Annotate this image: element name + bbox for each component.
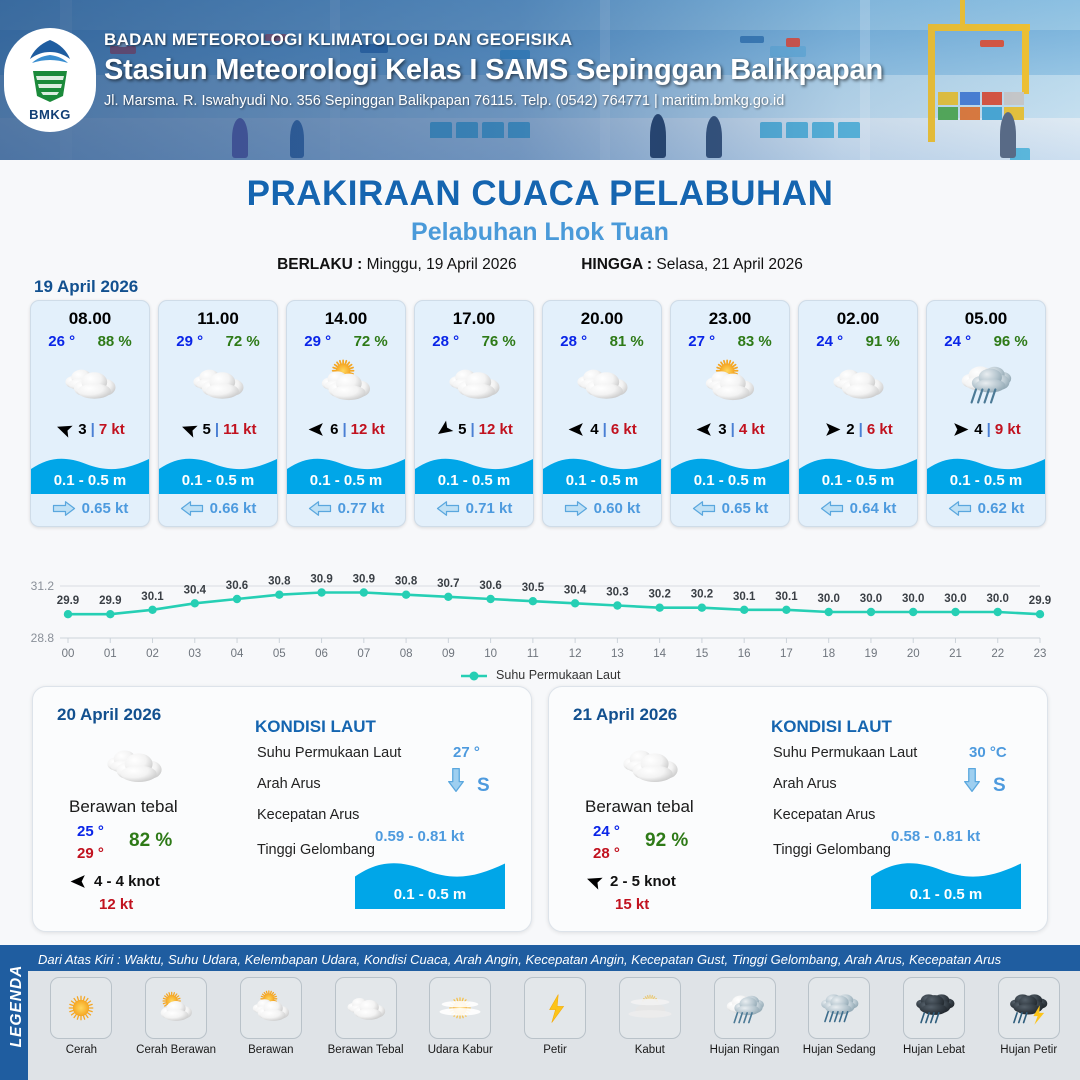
legend-item-icon-box	[240, 977, 302, 1039]
card-weather-icon	[287, 354, 405, 412]
svg-text:30.8: 30.8	[395, 576, 418, 588]
wind-direction-arrow-icon	[435, 420, 454, 439]
svg-text:15: 15	[696, 648, 709, 660]
partly-cloudy-icon	[310, 357, 382, 409]
forecast-card: 05.0024 °96 % 4|9 kt0.1 - 0.5 m0.62 kt	[926, 300, 1046, 527]
current-direction-down-arrow-icon	[963, 767, 981, 793]
card-temperature: 27 °	[688, 333, 715, 350]
card-wind-separator: |	[342, 421, 346, 438]
card-weather-icon	[159, 354, 277, 412]
cloudy-icon	[611, 737, 689, 793]
sea-current-direction-icon	[963, 767, 981, 798]
legend-item-icon-box	[808, 977, 870, 1039]
header-text-block: BADAN METEOROLOGI KLIMATOLOGI DAN GEOFIS…	[104, 30, 883, 109]
svg-text:30.0: 30.0	[902, 593, 924, 605]
legend-item: Petir	[508, 977, 603, 1057]
sun-cloud-icon	[149, 983, 203, 1033]
card-wave-height: 0.1 - 0.5 m	[671, 472, 789, 489]
wind-direction-arrow-icon	[307, 420, 326, 439]
current-direction-arrow-icon	[948, 500, 972, 517]
legend-item-label: Berawan	[248, 1044, 293, 1057]
svg-text:11: 11	[527, 648, 539, 660]
card-weather-icon	[799, 354, 917, 412]
card-gust-speed: 11 kt	[223, 421, 256, 438]
wind-direction-arrow-icon	[951, 420, 970, 439]
legend-item-label: Cerah Berawan	[136, 1044, 216, 1057]
wind-direction-arrow-icon	[695, 420, 714, 439]
svg-text:30.6: 30.6	[226, 580, 248, 592]
card-humidity: 76 %	[482, 333, 516, 350]
card-weather-icon	[671, 354, 789, 412]
sea-row-label-sst: Suhu Permukaan Laut	[773, 745, 917, 761]
chart-legend-marker-icon	[460, 670, 488, 682]
card-time: 08.00	[31, 301, 149, 329]
lightning-icon	[528, 983, 582, 1033]
sea-wave-box: 0.1 - 0.5 m	[871, 857, 1021, 909]
day-temp-min: 24 °	[593, 823, 620, 840]
wind-direction-arrow-icon	[567, 420, 586, 439]
svg-text:07: 07	[357, 648, 370, 660]
card-wave-height: 0.1 - 0.5 m	[415, 472, 533, 489]
card-values: 29 °72 %	[159, 329, 277, 350]
card-current-speed: 0.65 kt	[82, 500, 129, 517]
card-current: 0.77 kt	[287, 494, 405, 526]
chart-legend-label: Suhu Permukaan Laut	[496, 668, 620, 682]
sea-temperature-chart: 31.228.800010203040506070809101112131415…	[16, 556, 1064, 676]
card-wind: 2|6 kt	[799, 412, 917, 446]
daily-forecast-panels: 20 April 2026 Berawan tebal25 °29 °82 %4…	[32, 686, 1048, 932]
day-date: 21 April 2026	[573, 705, 677, 725]
card-time: 02.00	[799, 301, 917, 329]
card-weather-icon	[415, 354, 533, 412]
clouds-icon	[339, 983, 393, 1033]
card-wind: 3|7 kt	[31, 412, 149, 446]
card-wind-direction: 6	[330, 421, 338, 438]
valid-until-label: HINGGA :	[581, 256, 652, 273]
sea-row-value-sst: 30 °C	[969, 744, 1007, 761]
daily-forecast-panel: 21 April 2026 Berawan tebal24 °28 °92 %2…	[548, 686, 1048, 932]
legend-item: Hujan Ringan	[697, 977, 792, 1057]
card-current: 0.64 kt	[799, 494, 917, 526]
card-wind-direction: 4	[590, 421, 598, 438]
legend-item: Udara Kabur	[413, 977, 508, 1057]
legend-item-icon-box	[998, 977, 1060, 1039]
svg-text:30.0: 30.0	[818, 593, 840, 605]
legend-item-label: Hujan Lebat	[903, 1044, 965, 1057]
svg-text:30.7: 30.7	[437, 578, 459, 590]
legend-item: Cerah Berawan	[129, 977, 224, 1057]
svg-text:03: 03	[188, 648, 201, 660]
card-current-speed: 0.60 kt	[594, 500, 641, 517]
card-values: 28 °76 %	[415, 329, 533, 350]
card-values: 26 °88 %	[31, 329, 149, 350]
svg-text:30.1: 30.1	[775, 591, 798, 603]
card-wind: 5|11 kt	[159, 412, 277, 446]
svg-text:30.5: 30.5	[522, 582, 545, 594]
card-current: 0.60 kt	[543, 494, 661, 526]
card-gust-speed: 7 kt	[99, 421, 125, 438]
current-direction-arrow-icon	[308, 500, 332, 517]
current-direction-arrow-icon	[692, 500, 716, 517]
cloudy-icon	[566, 357, 638, 409]
day-date: 20 April 2026	[57, 705, 161, 725]
hourly-forecast-cards: 08.0026 °88 % 3|7 kt0.1 - 0.5 m0.65 kt11…	[30, 300, 1050, 527]
cloudy-icon	[822, 357, 894, 409]
legend-item: Hujan Sedang	[792, 977, 887, 1057]
svg-text:14: 14	[653, 648, 666, 660]
card-wind: 6|12 kt	[287, 412, 405, 446]
card-wave-height: 0.1 - 0.5 m	[159, 472, 277, 489]
svg-text:08: 08	[400, 648, 413, 660]
legend-item-label: Kabut	[635, 1044, 665, 1057]
cloudy-icon	[182, 357, 254, 409]
card-wave: 0.1 - 0.5 m	[159, 446, 277, 494]
page-title: PRAKIRAAN CUACA PELABUHAN	[0, 174, 1080, 214]
svg-text:10: 10	[484, 648, 497, 660]
legend-item: Hujan Petir	[981, 977, 1076, 1057]
legend-item: Berawan Tebal	[318, 977, 413, 1057]
svg-text:04: 04	[231, 648, 244, 660]
card-wave: 0.1 - 0.5 m	[287, 446, 405, 494]
svg-text:13: 13	[611, 648, 624, 660]
svg-text:30.0: 30.0	[860, 593, 882, 605]
legend-item-label: Petir	[543, 1044, 567, 1057]
legend-item-label: Hujan Sedang	[803, 1044, 876, 1057]
sea-condition-title: KONDISI LAUT	[255, 717, 376, 737]
svg-text:30.8: 30.8	[268, 576, 291, 588]
card-time: 14.00	[287, 301, 405, 329]
card-wind-direction: 3	[718, 421, 726, 438]
card-values: 28 °81 %	[543, 329, 661, 350]
svg-text:30.2: 30.2	[649, 589, 671, 601]
card-humidity: 81 %	[610, 333, 644, 350]
sea-row-value-current-speed: 0.58 - 0.81 kt	[891, 828, 980, 845]
svg-text:16: 16	[738, 648, 751, 660]
card-wave: 0.1 - 0.5 m	[415, 446, 533, 494]
card-humidity: 88 %	[98, 333, 132, 350]
svg-text:17: 17	[780, 648, 793, 660]
current-direction-arrow-icon	[564, 500, 588, 517]
valid-from-value: Minggu, 19 April 2026	[367, 256, 517, 273]
forecast-card: 17.0028 °76 % 5|12 kt0.1 - 0.5 m0.71 kt	[414, 300, 534, 527]
cloudy-icon	[95, 737, 173, 793]
sea-row-label-wave: Tinggi Gelombang	[773, 842, 891, 858]
svg-text:30.0: 30.0	[987, 593, 1009, 605]
card-wind-direction: 3	[78, 421, 86, 438]
svg-text:30.9: 30.9	[353, 574, 375, 586]
card-wave-height: 0.1 - 0.5 m	[543, 472, 661, 489]
haze-icon	[433, 983, 487, 1033]
card-gust-speed: 4 kt	[739, 421, 765, 438]
svg-text:19: 19	[865, 648, 878, 660]
svg-text:28.8: 28.8	[31, 631, 55, 645]
card-wind-separator: |	[859, 421, 863, 438]
forecast-card: 11.0029 °72 % 5|11 kt0.1 - 0.5 m0.66 kt	[158, 300, 278, 527]
sun-icon	[54, 983, 108, 1033]
card-values: 24 °96 %	[927, 329, 1045, 350]
day-condition: Berawan tebal	[585, 797, 694, 817]
card-wave-height: 0.1 - 0.5 m	[31, 472, 149, 489]
sea-row-label-current-speed: Kecepatan Arus	[257, 807, 359, 823]
card-gust-speed: 12 kt	[479, 421, 513, 438]
legend-icon-list: Cerah Cerah Berawan Berawan Berawan Teba…	[28, 971, 1080, 1080]
svg-text:02: 02	[146, 648, 159, 660]
card-temperature: 24 °	[944, 333, 971, 350]
legend-side-tab: LEGENDA	[0, 945, 28, 1080]
card-humidity: 72 %	[354, 333, 388, 350]
legend-item-label: Udara Kabur	[428, 1044, 493, 1057]
day-gust: 15 kt	[615, 896, 649, 913]
sea-row-label-current-dir: Arah Arus	[257, 776, 321, 792]
card-wave-height: 0.1 - 0.5 m	[799, 472, 917, 489]
current-direction-arrow-icon	[52, 500, 76, 517]
sea-condition-title: KONDISI LAUT	[771, 717, 892, 737]
svg-text:30.3: 30.3	[606, 587, 628, 599]
legend-item-label: Hujan Ringan	[710, 1044, 780, 1057]
wind-direction-arrow-icon	[585, 872, 604, 891]
agency-name: BADAN METEOROLOGI KLIMATOLOGI DAN GEOFIS…	[104, 30, 883, 50]
svg-text:29.9: 29.9	[1029, 595, 1051, 607]
port-name: Pelabuhan Lhok Tuan	[0, 218, 1080, 247]
svg-text:30.1: 30.1	[141, 591, 164, 603]
legend-item-icon-box	[50, 977, 112, 1039]
day-wind: 2 - 5 knot	[585, 872, 676, 891]
fog-icon	[623, 983, 677, 1033]
legend-item-icon-box	[714, 977, 776, 1039]
svg-text:21: 21	[949, 648, 962, 660]
legend-item-icon-box	[619, 977, 681, 1039]
card-wave: 0.1 - 0.5 m	[671, 446, 789, 494]
heavy-rain-icon	[907, 983, 961, 1033]
legend-item-label: Berawan Tebal	[328, 1044, 404, 1057]
current-direction-arrow-icon	[436, 500, 460, 517]
card-current-speed: 0.71 kt	[466, 500, 513, 517]
day-humidity: 92 %	[645, 830, 688, 852]
forecast-date-label: 19 April 2026	[34, 277, 138, 297]
card-wind-direction: 5	[458, 421, 466, 438]
wind-direction-arrow-icon	[69, 872, 88, 891]
svg-text:30.6: 30.6	[479, 580, 501, 592]
validity-range: BERLAKU : Minggu, 19 April 2026 HINGGA :…	[0, 256, 1080, 274]
legend-caption: Dari Atas Kiri : Waktu, Suhu Udara, Kele…	[38, 952, 1001, 967]
card-current-speed: 0.64 kt	[850, 500, 897, 517]
day-wind-speed: 4 - 4 knot	[94, 873, 160, 890]
card-gust-speed: 12 kt	[351, 421, 385, 438]
card-wind: 5|12 kt	[415, 412, 533, 446]
sea-row-label-current-dir: Arah Arus	[773, 776, 837, 792]
day-wind: 4 - 4 knot	[69, 872, 160, 891]
svg-text:30.2: 30.2	[691, 589, 713, 601]
station-name: Stasiun Meteorologi Kelas I SAMS Sepingg…	[104, 54, 883, 87]
legend-item: Cerah	[34, 977, 129, 1057]
card-time: 05.00	[927, 301, 1045, 329]
svg-text:29.9: 29.9	[57, 595, 79, 607]
card-wave: 0.1 - 0.5 m	[31, 446, 149, 494]
wind-direction-arrow-icon	[55, 420, 74, 439]
forecast-card: 02.0024 °91 % 2|6 kt0.1 - 0.5 m0.64 kt	[798, 300, 918, 527]
svg-text:12: 12	[569, 648, 582, 660]
forecast-card: 20.0028 °81 % 4|6 kt0.1 - 0.5 m0.60 kt	[542, 300, 662, 527]
day-wind-speed: 2 - 5 knot	[610, 873, 676, 890]
card-wave: 0.1 - 0.5 m	[543, 446, 661, 494]
sea-row-label-wave: Tinggi Gelombang	[257, 842, 375, 858]
svg-text:00: 00	[62, 648, 75, 660]
legend-item-icon-box	[903, 977, 965, 1039]
card-wind: 3|4 kt	[671, 412, 789, 446]
svg-text:01: 01	[104, 648, 117, 660]
cloud-sun-icon	[244, 983, 298, 1033]
card-humidity: 96 %	[994, 333, 1028, 350]
wind-direction-arrow-icon	[180, 420, 199, 439]
day-temp-min: 25 °	[77, 823, 104, 840]
bmkg-logo-icon	[23, 38, 77, 104]
sea-row-value-current-dir: S	[477, 775, 490, 797]
card-wind-direction: 4	[974, 421, 982, 438]
page-header: BMKG BADAN METEOROLOGI KLIMATOLOGI DAN G…	[0, 0, 1080, 160]
valid-from-label: BERLAKU :	[277, 256, 362, 273]
day-condition: Berawan tebal	[69, 797, 178, 817]
card-wind-separator: |	[731, 421, 735, 438]
legend-item-label: Hujan Petir	[1000, 1044, 1057, 1057]
daily-forecast-panel: 20 April 2026 Berawan tebal25 °29 °82 %4…	[32, 686, 532, 932]
svg-text:31.2: 31.2	[31, 579, 55, 593]
card-temperature: 29 °	[176, 333, 203, 350]
bmkg-logo: BMKG	[4, 28, 96, 132]
svg-text:06: 06	[315, 648, 328, 660]
legend-item-icon-box	[145, 977, 207, 1039]
sea-row-label-sst: Suhu Permukaan Laut	[257, 745, 401, 761]
sea-row-value-current-dir: S	[993, 775, 1006, 797]
svg-text:18: 18	[822, 648, 835, 660]
forecast-card: 14.0029 °72 % 6|12 kt0.1 - 0.5 m0.77 kt	[286, 300, 406, 527]
current-direction-down-arrow-icon	[447, 767, 465, 793]
valid-until-value: Selasa, 21 April 2026	[656, 256, 803, 273]
svg-text:30.0: 30.0	[944, 593, 966, 605]
card-time: 20.00	[543, 301, 661, 329]
day-gust: 12 kt	[99, 896, 133, 913]
sea-row-value-current-speed: 0.59 - 0.81 kt	[375, 828, 464, 845]
cloudy-icon	[438, 357, 510, 409]
card-values: 27 °83 %	[671, 329, 789, 350]
day-humidity: 82 %	[129, 830, 172, 852]
card-wind: 4|6 kt	[543, 412, 661, 446]
card-current-speed: 0.62 kt	[978, 500, 1025, 517]
svg-text:30.4: 30.4	[184, 584, 207, 596]
chart-svg: 31.228.800010203040506070809101112131415…	[16, 556, 1064, 666]
card-wave-height: 0.1 - 0.5 m	[927, 472, 1045, 489]
card-wind-separator: |	[603, 421, 607, 438]
card-temperature: 28 °	[432, 333, 459, 350]
card-gust-speed: 6 kt	[867, 421, 893, 438]
sea-row-value-sst: 27 °	[453, 744, 480, 761]
day-temp-max: 28 °	[593, 845, 620, 862]
day-temp-max: 29 °	[77, 845, 104, 862]
card-wave-height: 0.1 - 0.5 m	[287, 472, 405, 489]
card-current: 0.71 kt	[415, 494, 533, 526]
rain-icon	[950, 357, 1022, 409]
svg-text:30.9: 30.9	[310, 574, 332, 586]
card-wind-separator: |	[91, 421, 95, 438]
card-wind-separator: |	[470, 421, 474, 438]
card-values: 29 °72 %	[287, 329, 405, 350]
card-time: 11.00	[159, 301, 277, 329]
card-wind-direction: 5	[203, 421, 211, 438]
card-time: 23.00	[671, 301, 789, 329]
legend-item-icon-box	[524, 977, 586, 1039]
card-current: 0.65 kt	[671, 494, 789, 526]
legend-item: Berawan	[223, 977, 318, 1057]
card-humidity: 91 %	[866, 333, 900, 350]
card-temperature: 29 °	[304, 333, 331, 350]
card-temperature: 28 °	[560, 333, 587, 350]
legend-item-icon-box	[335, 977, 397, 1039]
bmkg-logo-text: BMKG	[29, 107, 71, 122]
sea-row-value-wave: 0.1 - 0.5 m	[355, 886, 505, 903]
chart-legend: Suhu Permukaan Laut	[16, 668, 1064, 682]
card-weather-icon	[31, 354, 149, 412]
card-wind-separator: |	[215, 421, 219, 438]
card-current-speed: 0.66 kt	[210, 500, 257, 517]
svg-text:23: 23	[1034, 648, 1047, 660]
partly-cloudy-icon	[694, 357, 766, 409]
card-time: 17.00	[415, 301, 533, 329]
forecast-card: 23.0027 °83 % 3|4 kt0.1 - 0.5 m0.65 kt	[670, 300, 790, 527]
day-weather-icon	[95, 737, 173, 798]
card-current-speed: 0.77 kt	[338, 500, 385, 517]
svg-text:30.1: 30.1	[733, 591, 756, 603]
card-humidity: 72 %	[226, 333, 260, 350]
moderate-rain-icon	[812, 983, 866, 1033]
card-wind-separator: |	[987, 421, 991, 438]
legend-bar: LEGENDA Dari Atas Kiri : Waktu, Suhu Uda…	[0, 945, 1080, 1080]
current-direction-arrow-icon	[820, 500, 844, 517]
svg-text:22: 22	[991, 648, 1004, 660]
title-block: PRAKIRAAN CUACA PELABUHAN Pelabuhan Lhok…	[0, 160, 1080, 274]
sea-row-label-current-speed: Kecepatan Arus	[773, 807, 875, 823]
card-current-speed: 0.65 kt	[722, 500, 769, 517]
cloudy-icon	[54, 357, 126, 409]
sea-wave-box: 0.1 - 0.5 m	[355, 857, 505, 909]
card-weather-icon	[543, 354, 661, 412]
wind-direction-arrow-icon	[823, 420, 842, 439]
thunderstorm-icon	[1002, 983, 1056, 1033]
legend-item: Hujan Lebat	[887, 977, 982, 1057]
svg-text:30.4: 30.4	[564, 584, 587, 596]
card-weather-icon	[927, 354, 1045, 412]
forecast-card: 08.0026 °88 % 3|7 kt0.1 - 0.5 m0.65 kt	[30, 300, 150, 527]
card-values: 24 °91 %	[799, 329, 917, 350]
card-gust-speed: 9 kt	[995, 421, 1021, 438]
card-temperature: 24 °	[816, 333, 843, 350]
svg-text:29.9: 29.9	[99, 595, 121, 607]
card-current: 0.65 kt	[31, 494, 149, 526]
card-gust-speed: 6 kt	[611, 421, 637, 438]
sea-row-value-wave: 0.1 - 0.5 m	[871, 886, 1021, 903]
card-wave: 0.1 - 0.5 m	[927, 446, 1045, 494]
card-temperature: 26 °	[48, 333, 75, 350]
current-direction-arrow-icon	[180, 500, 204, 517]
svg-text:09: 09	[442, 648, 455, 660]
card-wind-direction: 2	[846, 421, 854, 438]
sea-current-direction-icon	[447, 767, 465, 798]
svg-text:05: 05	[273, 648, 286, 660]
station-address: Jl. Marsma. R. Iswahyudi No. 356 Sepingg…	[104, 93, 883, 109]
card-current: 0.62 kt	[927, 494, 1045, 526]
svg-text:20: 20	[907, 648, 920, 660]
legend-item-label: Cerah	[66, 1044, 97, 1057]
card-current: 0.66 kt	[159, 494, 277, 526]
day-weather-icon	[611, 737, 689, 798]
